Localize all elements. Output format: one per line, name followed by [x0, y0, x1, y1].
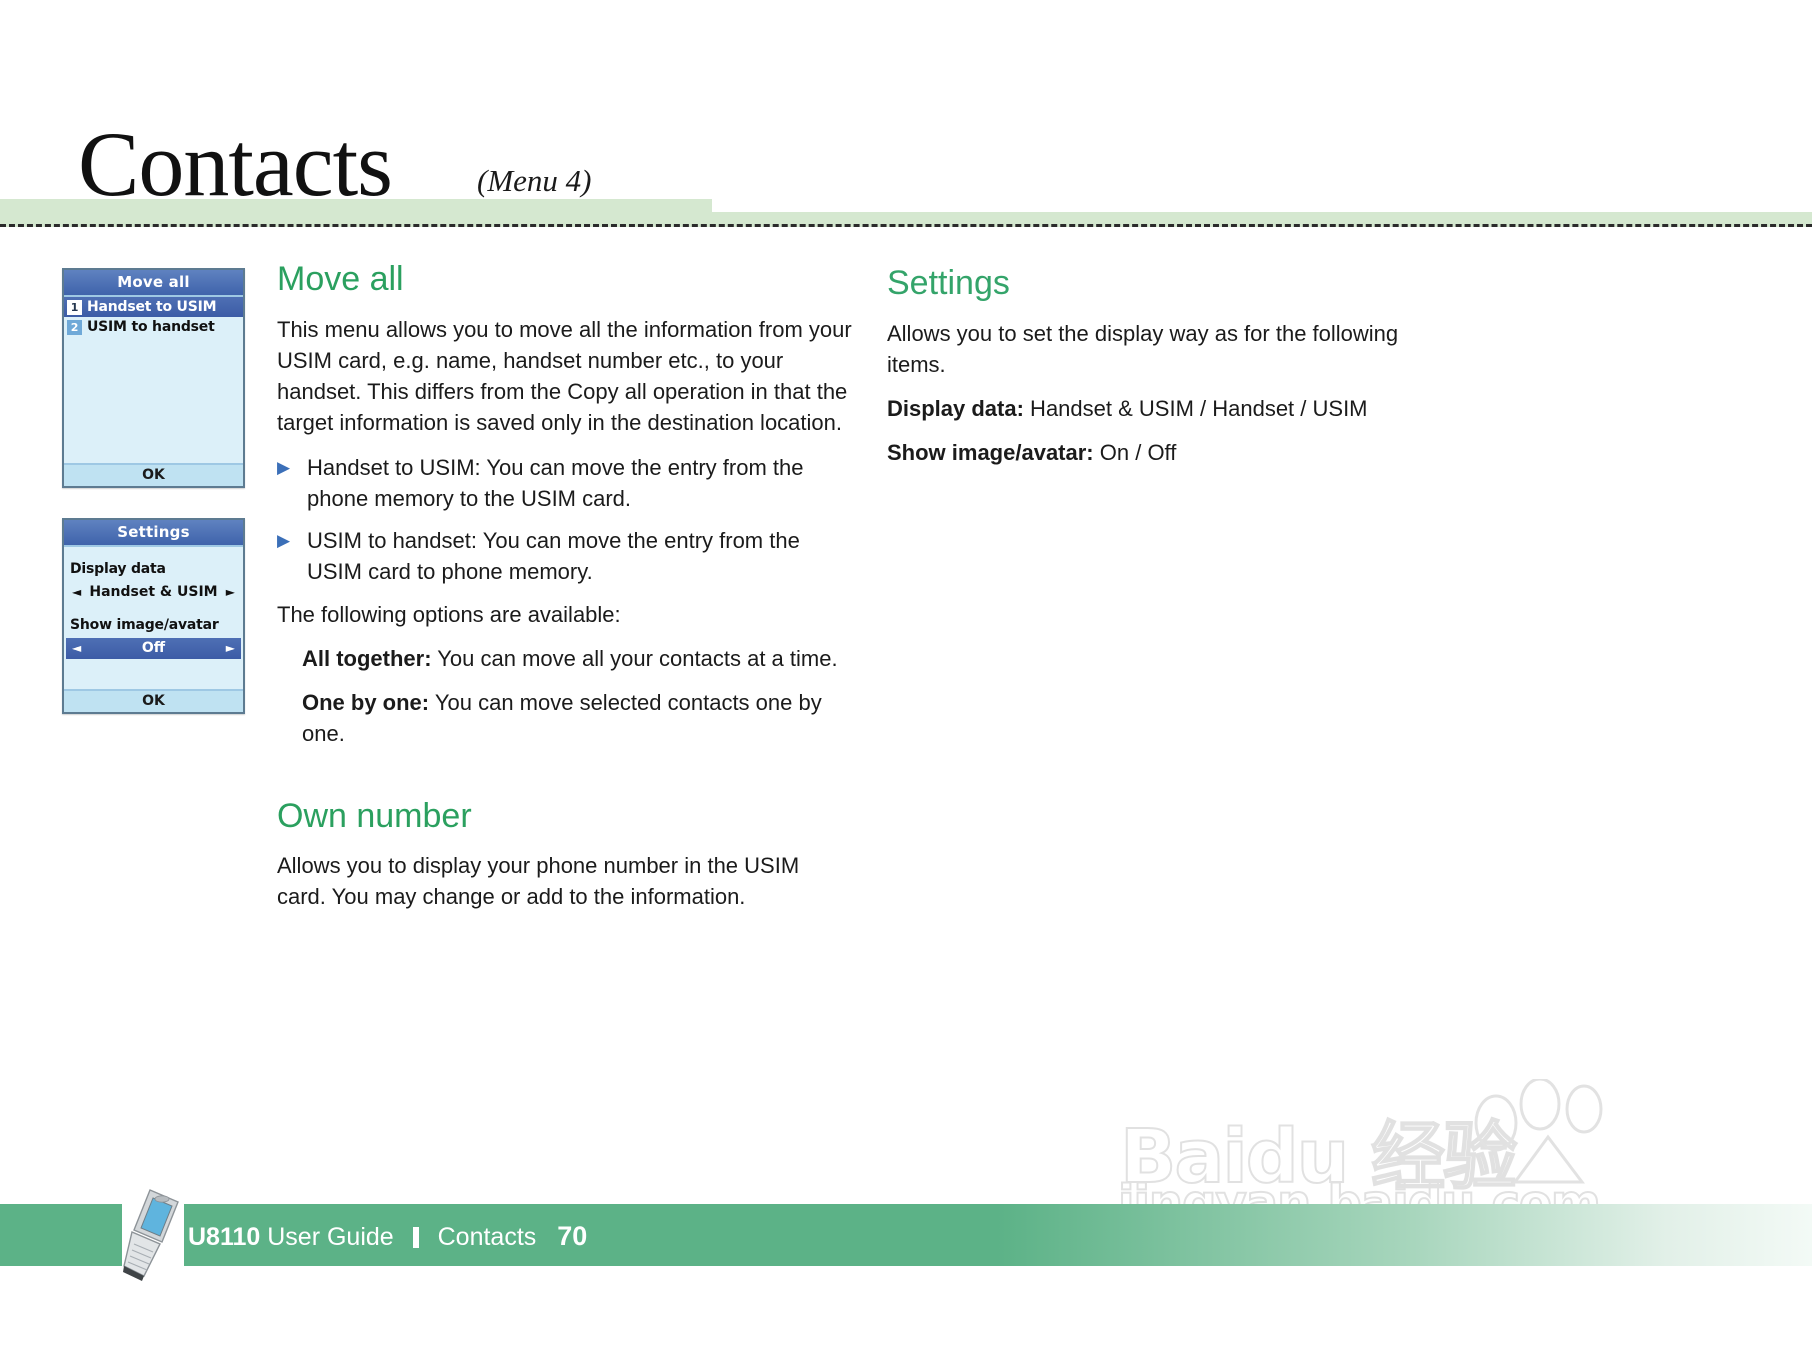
settings-stepper-show-image-avatar[interactable]: ◄ Off ►: [66, 638, 241, 659]
bullet-triangle-icon: ▶: [277, 452, 307, 514]
chevron-left-icon[interactable]: ◄: [72, 642, 81, 654]
page-title: Contacts: [78, 118, 392, 210]
screen-top-padding: [64, 547, 243, 557]
settings-row-display-data: Display data: Handset & USIM / Handset /…: [887, 393, 1447, 424]
settings-field-label-show-image-avatar: Show image/avatar: [64, 613, 243, 635]
list-index: 1: [67, 300, 82, 315]
move-all-screen-title: Move all: [64, 270, 243, 297]
paw-icon: [1460, 1079, 1640, 1184]
section-heading-settings: Settings: [887, 266, 1447, 302]
own-number-paragraph: Allows you to display your phone number …: [277, 850, 852, 912]
footer-page-number: 70: [557, 1221, 587, 1251]
settings-field-label-display-data: Display data: [64, 557, 243, 579]
bullet-usim-to-handset: ▶ USIM to handset: You can move the entr…: [277, 525, 852, 587]
move-all-screen-mockup: Move all 1 Handset to USIM 2 USIM to han…: [62, 268, 245, 488]
settings-ok-softkey[interactable]: OK: [64, 689, 243, 712]
option-description: You can move all your contacts at a time…: [432, 646, 838, 671]
settings-screen-body: Display data ◄ Handset & USIM ► Show ima…: [64, 547, 243, 689]
settings-row-values: On / Off: [1094, 440, 1177, 465]
header-dashed-rule: [0, 201, 1812, 227]
move-all-screen-body: 1 Handset to USIM 2 USIM to handset: [64, 297, 243, 463]
settings-stepper-value: Off: [81, 640, 226, 656]
move-all-ok-softkey[interactable]: OK: [64, 463, 243, 486]
footer-guide-label: User Guide: [267, 1223, 393, 1251]
move-all-item-handset-to-usim[interactable]: 1 Handset to USIM: [64, 297, 243, 317]
option-term: One by one:: [302, 690, 429, 715]
settings-stepper-value: Handset & USIM: [81, 584, 226, 600]
right-content-column: Settings Allows you to set the display w…: [887, 266, 1447, 482]
settings-row-term: Display data:: [887, 396, 1024, 421]
list-index: 2: [67, 320, 82, 335]
settings-screen-mockup: Settings Display data ◄ Handset & USIM ►…: [62, 518, 245, 714]
screen-mockups-column: Move all 1 Handset to USIM 2 USIM to han…: [62, 268, 247, 744]
footer-text: U8110 User Guide Contacts 70: [188, 1221, 587, 1252]
move-all-item-usim-to-handset[interactable]: 2 USIM to handset: [64, 317, 243, 337]
list-item-label: Handset to USIM: [87, 299, 216, 315]
screen-bottom-padding: [64, 663, 243, 689]
screen-empty-area: [64, 337, 243, 463]
footer-separator-icon: [413, 1227, 419, 1248]
option-one-by-one: One by one: You can move selected contac…: [302, 687, 852, 749]
section-heading-move-all: Move all: [277, 262, 852, 298]
chevron-left-icon[interactable]: ◄: [72, 586, 81, 598]
settings-stepper-display-data[interactable]: ◄ Handset & USIM ►: [66, 582, 241, 603]
footer-section: Contacts: [438, 1223, 537, 1251]
main-content-column: Move all This menu allows you to move al…: [277, 262, 852, 926]
bullet-text: USIM to handset: You can move the entry …: [307, 525, 852, 587]
section-heading-own-number: Own number: [277, 799, 852, 835]
options-intro-paragraph: The following options are available:: [277, 599, 852, 630]
settings-row-show-image-avatar: Show image/avatar: On / Off: [887, 437, 1447, 468]
settings-row-values: Handset & USIM / Handset / USIM: [1024, 396, 1368, 421]
bullet-handset-to-usim: ▶ Handset to USIM: You can move the entr…: [277, 452, 852, 514]
option-all-together: All together: You can move all your cont…: [302, 643, 852, 674]
chevron-right-icon[interactable]: ►: [226, 642, 235, 654]
flip-phone-icon: [120, 1186, 190, 1281]
list-item-label: USIM to handset: [87, 319, 215, 335]
move-all-intro-paragraph: This menu allows you to move all the inf…: [277, 314, 852, 439]
bullet-text: Handset to USIM: You can move the entry …: [307, 452, 852, 514]
section-spacer: [277, 763, 852, 799]
settings-intro-paragraph: Allows you to set the display way as for…: [887, 318, 1447, 380]
watermark-top-text: Baidu 经验: [1120, 1097, 1515, 1204]
page-header: Contacts (Menu 4): [0, 0, 1812, 240]
menu-reference: (Menu 4): [477, 163, 591, 199]
settings-screen-title: Settings: [64, 520, 243, 547]
option-term: All together:: [302, 646, 432, 671]
footer-model: U8110: [188, 1223, 260, 1251]
bullet-triangle-icon: ▶: [277, 525, 307, 587]
chevron-right-icon[interactable]: ►: [226, 586, 235, 598]
settings-row-term: Show image/avatar:: [887, 440, 1094, 465]
